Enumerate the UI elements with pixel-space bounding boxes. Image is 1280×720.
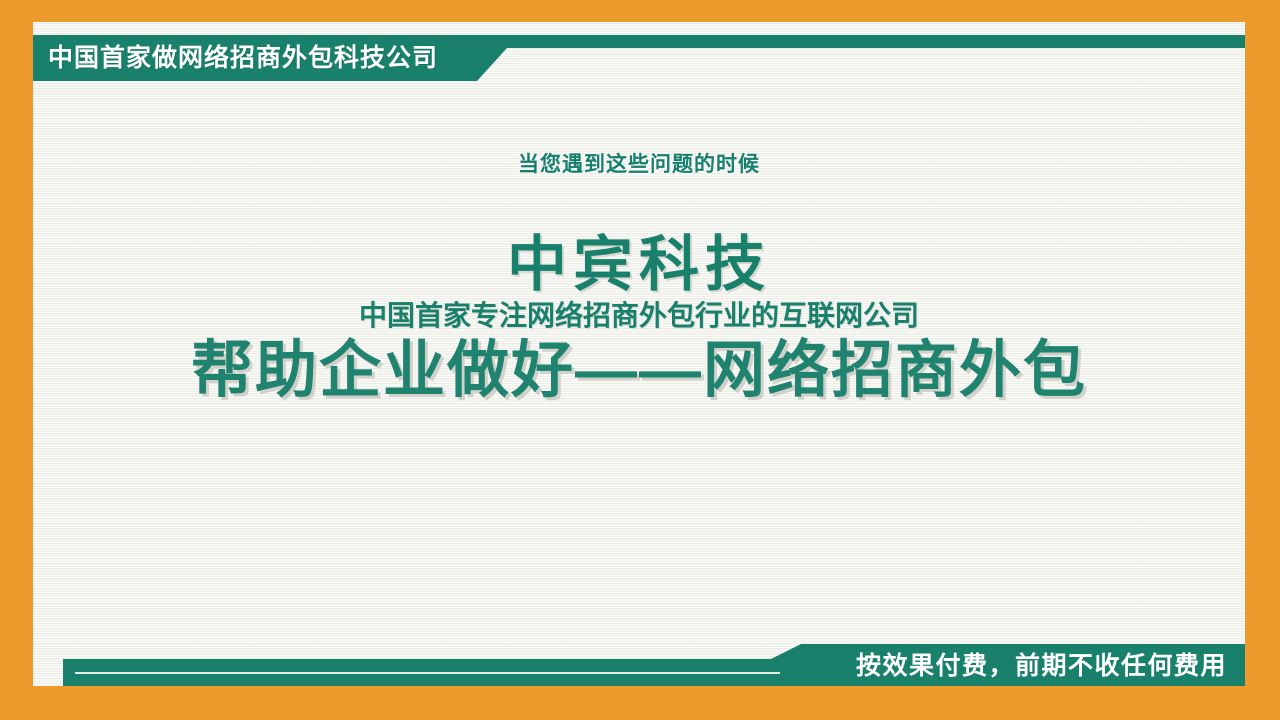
footer-title: 按效果付费，前期不收任何费用 bbox=[856, 644, 1227, 686]
slide-paper-background: 中国首家做网络招商外包科技公司 当您遇到这些问题的时候 中宾科技 中国首家专注网… bbox=[33, 22, 1245, 686]
eyebrow-text: 当您遇到这些问题的时候 bbox=[33, 152, 1245, 177]
header-banner: 中国首家做网络招商外包科技公司 bbox=[33, 35, 1245, 81]
footer-banner-rule bbox=[75, 672, 780, 674]
footer-banner: 按效果付费，前期不收任何费用 bbox=[33, 644, 1245, 686]
brand-tagline: 中国首家专注网络招商外包行业的互联网公司 bbox=[33, 298, 1245, 333]
brand-name: 中宾科技 bbox=[33, 233, 1245, 296]
slide-content: 当您遇到这些问题的时候 中宾科技 中国首家专注网络招商外包行业的互联网公司 帮助… bbox=[33, 152, 1245, 406]
main-headline: 帮助企业做好——网络招商外包 bbox=[33, 335, 1245, 406]
header-banner-rule bbox=[520, 55, 1245, 57]
slide-canvas: 中国首家做网络招商外包科技公司 当您遇到这些问题的时候 中宾科技 中国首家专注网… bbox=[0, 0, 1280, 720]
header-title: 中国首家做网络招商外包科技公司 bbox=[48, 35, 438, 81]
